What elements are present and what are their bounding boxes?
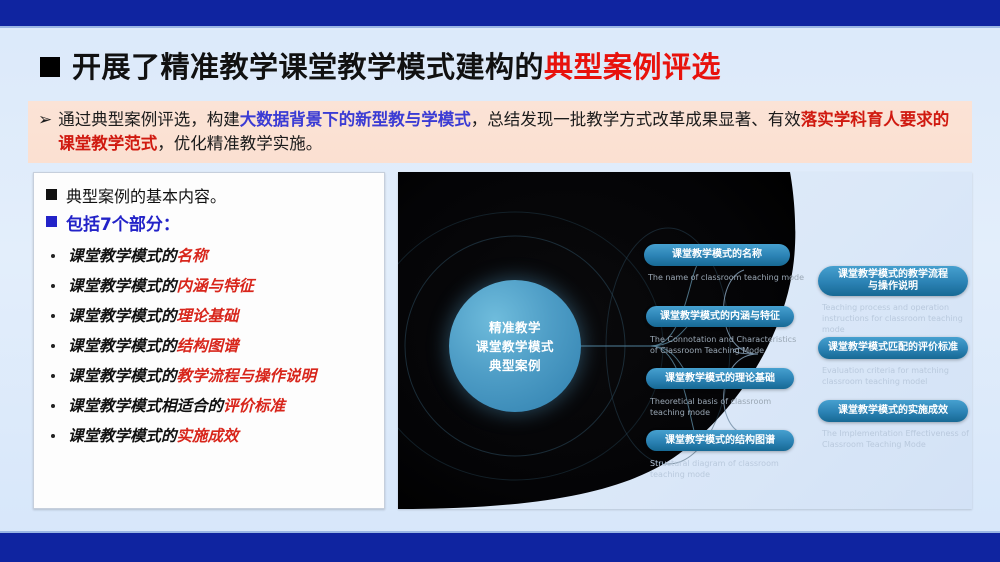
list-item-text: 课堂教学模式的教学流程与操作说明 — [68, 362, 316, 390]
black-square-bullet-icon — [46, 189, 57, 200]
list-item-emphasis: 实施成效 — [177, 426, 239, 445]
diagram-node-structure[interactable]: 课堂教学模式的结构图谱 — [646, 430, 794, 451]
diagram-node-connotation-sub-2: of Classroom Teaching Mode — [650, 345, 830, 356]
diagram-node-theory-sub-1: Theoretical basis of classroom — [650, 396, 830, 407]
list-item-prefix: 课堂教学模式相适合的 — [68, 396, 223, 415]
list-item-text: 课堂教学模式的结构图谱 — [68, 332, 239, 360]
list-item: 课堂教学模式的名称 — [46, 242, 376, 270]
list-item: 课堂教学模式的结构图谱 — [46, 332, 376, 360]
core-line-2: 课堂教学模式 — [476, 337, 554, 356]
list-item-emphasis: 评价标准 — [223, 396, 285, 415]
title-main: 开展了精准教学课堂教学模式建构的 — [72, 50, 544, 84]
list-item-prefix: 课堂教学模式的 — [68, 246, 177, 265]
callout-line2-a: 有效 — [768, 110, 801, 129]
top-blue-band — [0, 0, 1000, 26]
list-item-prefix: 课堂教学模式的 — [68, 366, 177, 385]
callout-line2-b: ，优化精准教学实施。 — [157, 134, 322, 153]
bullet-dot-icon — [51, 254, 55, 258]
list-item-emphasis: 教学流程与操作说明 — [177, 366, 317, 385]
panel-header-1: 典型案例的基本内容。 — [46, 183, 376, 207]
bullet-dot-icon — [51, 434, 55, 438]
title-highlight: 典型案例评选 — [544, 50, 721, 84]
diagram-node-process-line-1: 课堂教学模式的教学流程 — [838, 269, 948, 281]
diagram-node-connotation[interactable]: 课堂教学模式的内涵与特征 — [646, 306, 794, 327]
bullet-dot-icon — [51, 344, 55, 348]
title-square-marker-icon — [40, 57, 60, 77]
bullet-dot-icon — [51, 284, 55, 288]
core-line-1: 精准教学 — [489, 318, 541, 337]
list-item: 课堂教学模式的理论基础 — [46, 302, 376, 330]
list-item: 课堂教学模式的内涵与特征 — [46, 272, 376, 300]
list-item-text: 课堂教学模式的理论基础 — [68, 302, 239, 330]
list-item-prefix: 课堂教学模式的 — [68, 276, 177, 295]
callout-line1-blue: 大数据背景下的新型教与学模式 — [240, 110, 471, 129]
callout-text: 通过典型案例评选，构建大数据背景下的新型教与学模式，总结发现一批教学方式改革成果… — [58, 108, 962, 156]
list-item-prefix: 课堂教学模式的 — [68, 426, 177, 445]
list-item-emphasis: 理论基础 — [177, 306, 239, 325]
list-item-text: 课堂教学模式相适合的评价标准 — [68, 392, 285, 420]
diagram-node-process-sub-2: instructions for classroom teaching mode — [822, 313, 972, 335]
bottom-divider-line — [0, 531, 1000, 533]
diagram-node-evaluation[interactable]: 课堂教学模式匹配的评价标准 — [818, 337, 968, 359]
arrow-bullet-icon: ➢ — [38, 108, 52, 131]
diagram-node-theory-sub-2: teaching mode — [650, 407, 830, 418]
list-item: 课堂教学模式的教学流程与操作说明 — [46, 362, 376, 390]
diagram-node-process-sub-1: Teaching process and operation — [822, 302, 972, 313]
callout-line1-b: ，总结发现一批教学方式改革成果显著、 — [471, 110, 768, 129]
list-item: 课堂教学模式的实施成效 — [46, 422, 376, 450]
top-divider-line — [0, 26, 1000, 28]
panel-header-1-text: 典型案例的基本内容。 — [66, 183, 226, 207]
blue-square-bullet-icon — [46, 216, 57, 227]
list-item-emphasis: 内涵与特征 — [177, 276, 255, 295]
diagram-panel: 精准教学 课堂教学模式 典型案例 课堂教学模式的名称 The name of c… — [398, 172, 972, 509]
list-item-text: 课堂教学模式的内涵与特征 — [68, 272, 254, 300]
core-line-3: 典型案例 — [489, 356, 541, 375]
bullet-dot-icon — [51, 314, 55, 318]
callout-box: ➢ 通过典型案例评选，构建大数据背景下的新型教与学模式，总结发现一批教学方式改革… — [28, 101, 972, 163]
diagram-node-structure-sub-1: Structural diagram of classroom — [650, 458, 830, 469]
diagram-node-structure-sub-2: teaching mode — [650, 469, 830, 480]
left-content-panel: 典型案例的基本内容。 包括7个部分： 课堂教学模式的名称 课堂教学模式的内涵与特… — [33, 172, 385, 509]
callout-line1-a: 通过典型案例评选，构建 — [58, 110, 240, 129]
list-item-emphasis: 结构图谱 — [177, 336, 239, 355]
list-item-prefix: 课堂教学模式的 — [68, 306, 177, 325]
diagram-node-effectiveness-sub-1: The Implementation Effectiveness of — [822, 428, 972, 439]
list-item-text: 课堂教学模式的名称 — [68, 242, 208, 270]
list-item: 课堂教学模式相适合的评价标准 — [46, 392, 376, 420]
list-item-text: 课堂教学模式的实施成效 — [68, 422, 239, 450]
diagram-node-process-line-2: 与操作说明 — [868, 281, 918, 293]
bullet-dot-icon — [51, 374, 55, 378]
diagram-node-theory[interactable]: 课堂教学模式的理论基础 — [646, 368, 794, 389]
bullet-dot-icon — [51, 404, 55, 408]
slide-canvas: 开展了精准教学课堂教学模式建构的典型案例评选 ➢ 通过典型案例评选，构建大数据背… — [0, 0, 1000, 562]
page-title: 开展了精准教学课堂教学模式建构的典型案例评选 — [40, 44, 721, 86]
bullet-list: 课堂教学模式的名称 课堂教学模式的内涵与特征 课堂教学模式的理论基础 课堂教学模… — [46, 242, 376, 450]
panel-header-2-text: 包括7个部分： — [66, 210, 180, 235]
list-item-emphasis: 名称 — [177, 246, 208, 265]
diagram-node-evaluation-sub-1: Evaluation criteria for matching — [822, 365, 972, 376]
title-text: 开展了精准教学课堂教学模式建构的典型案例评选 — [72, 44, 721, 86]
diagram-node-effectiveness-sub-2: Classroom Teaching Mode — [822, 439, 972, 450]
diagram-core-node: 精准教学 课堂教学模式 典型案例 — [449, 280, 581, 412]
diagram-node-name-sub: The name of classroom teaching mode — [648, 272, 823, 283]
diagram-node-process[interactable]: 课堂教学模式的教学流程 与操作说明 — [818, 266, 968, 296]
bottom-blue-band — [0, 533, 1000, 562]
panel-header-2: 包括7个部分： — [46, 210, 376, 235]
diagram-node-name[interactable]: 课堂教学模式的名称 — [644, 244, 790, 266]
diagram-node-evaluation-sub-2: classroom teaching model — [822, 376, 972, 387]
diagram-node-connotation-sub-1: The Connotation and Characteristics — [650, 334, 830, 345]
diagram-node-effectiveness[interactable]: 课堂教学模式的实施成效 — [818, 400, 968, 422]
list-item-prefix: 课堂教学模式的 — [68, 336, 177, 355]
